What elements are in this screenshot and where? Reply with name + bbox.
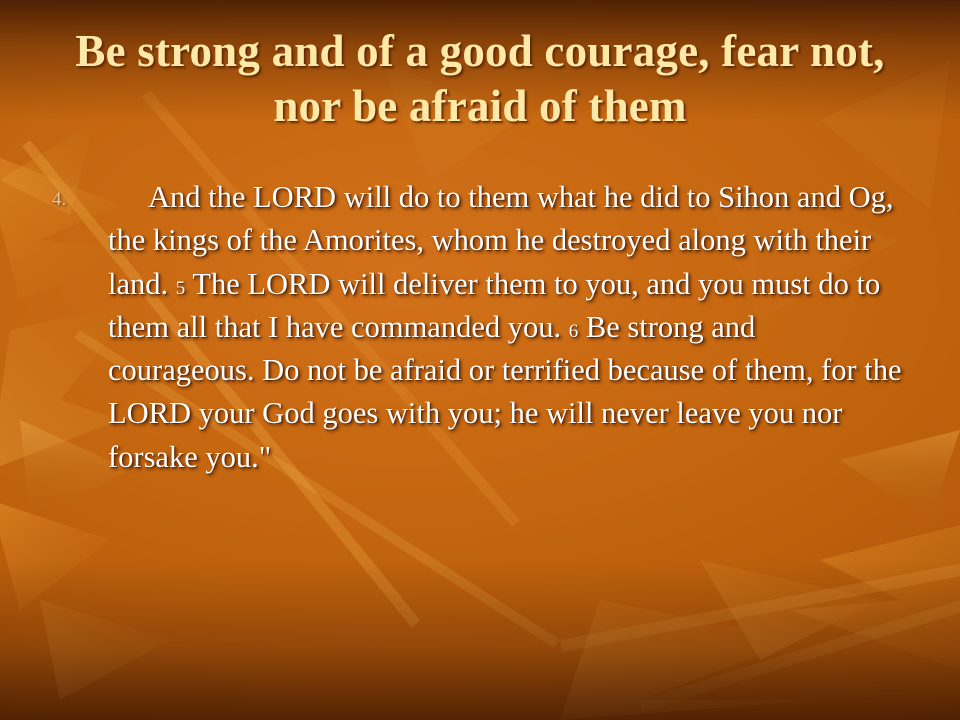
bullet-number: 4. <box>52 176 108 209</box>
verse-number-5: 5 <box>176 278 186 299</box>
scripture-part-2: The LORD will deliver them to you, and y… <box>108 267 880 344</box>
slide-body: 4. And the LORD will do to them what he … <box>52 176 908 479</box>
verse-number-6: 6 <box>569 321 579 342</box>
slide-title: Be strong and of a good courage, fear no… <box>40 24 920 134</box>
presentation-slide: Be strong and of a good courage, fear no… <box>0 0 960 720</box>
scripture-text: And the LORD will do to them what he did… <box>108 176 908 479</box>
